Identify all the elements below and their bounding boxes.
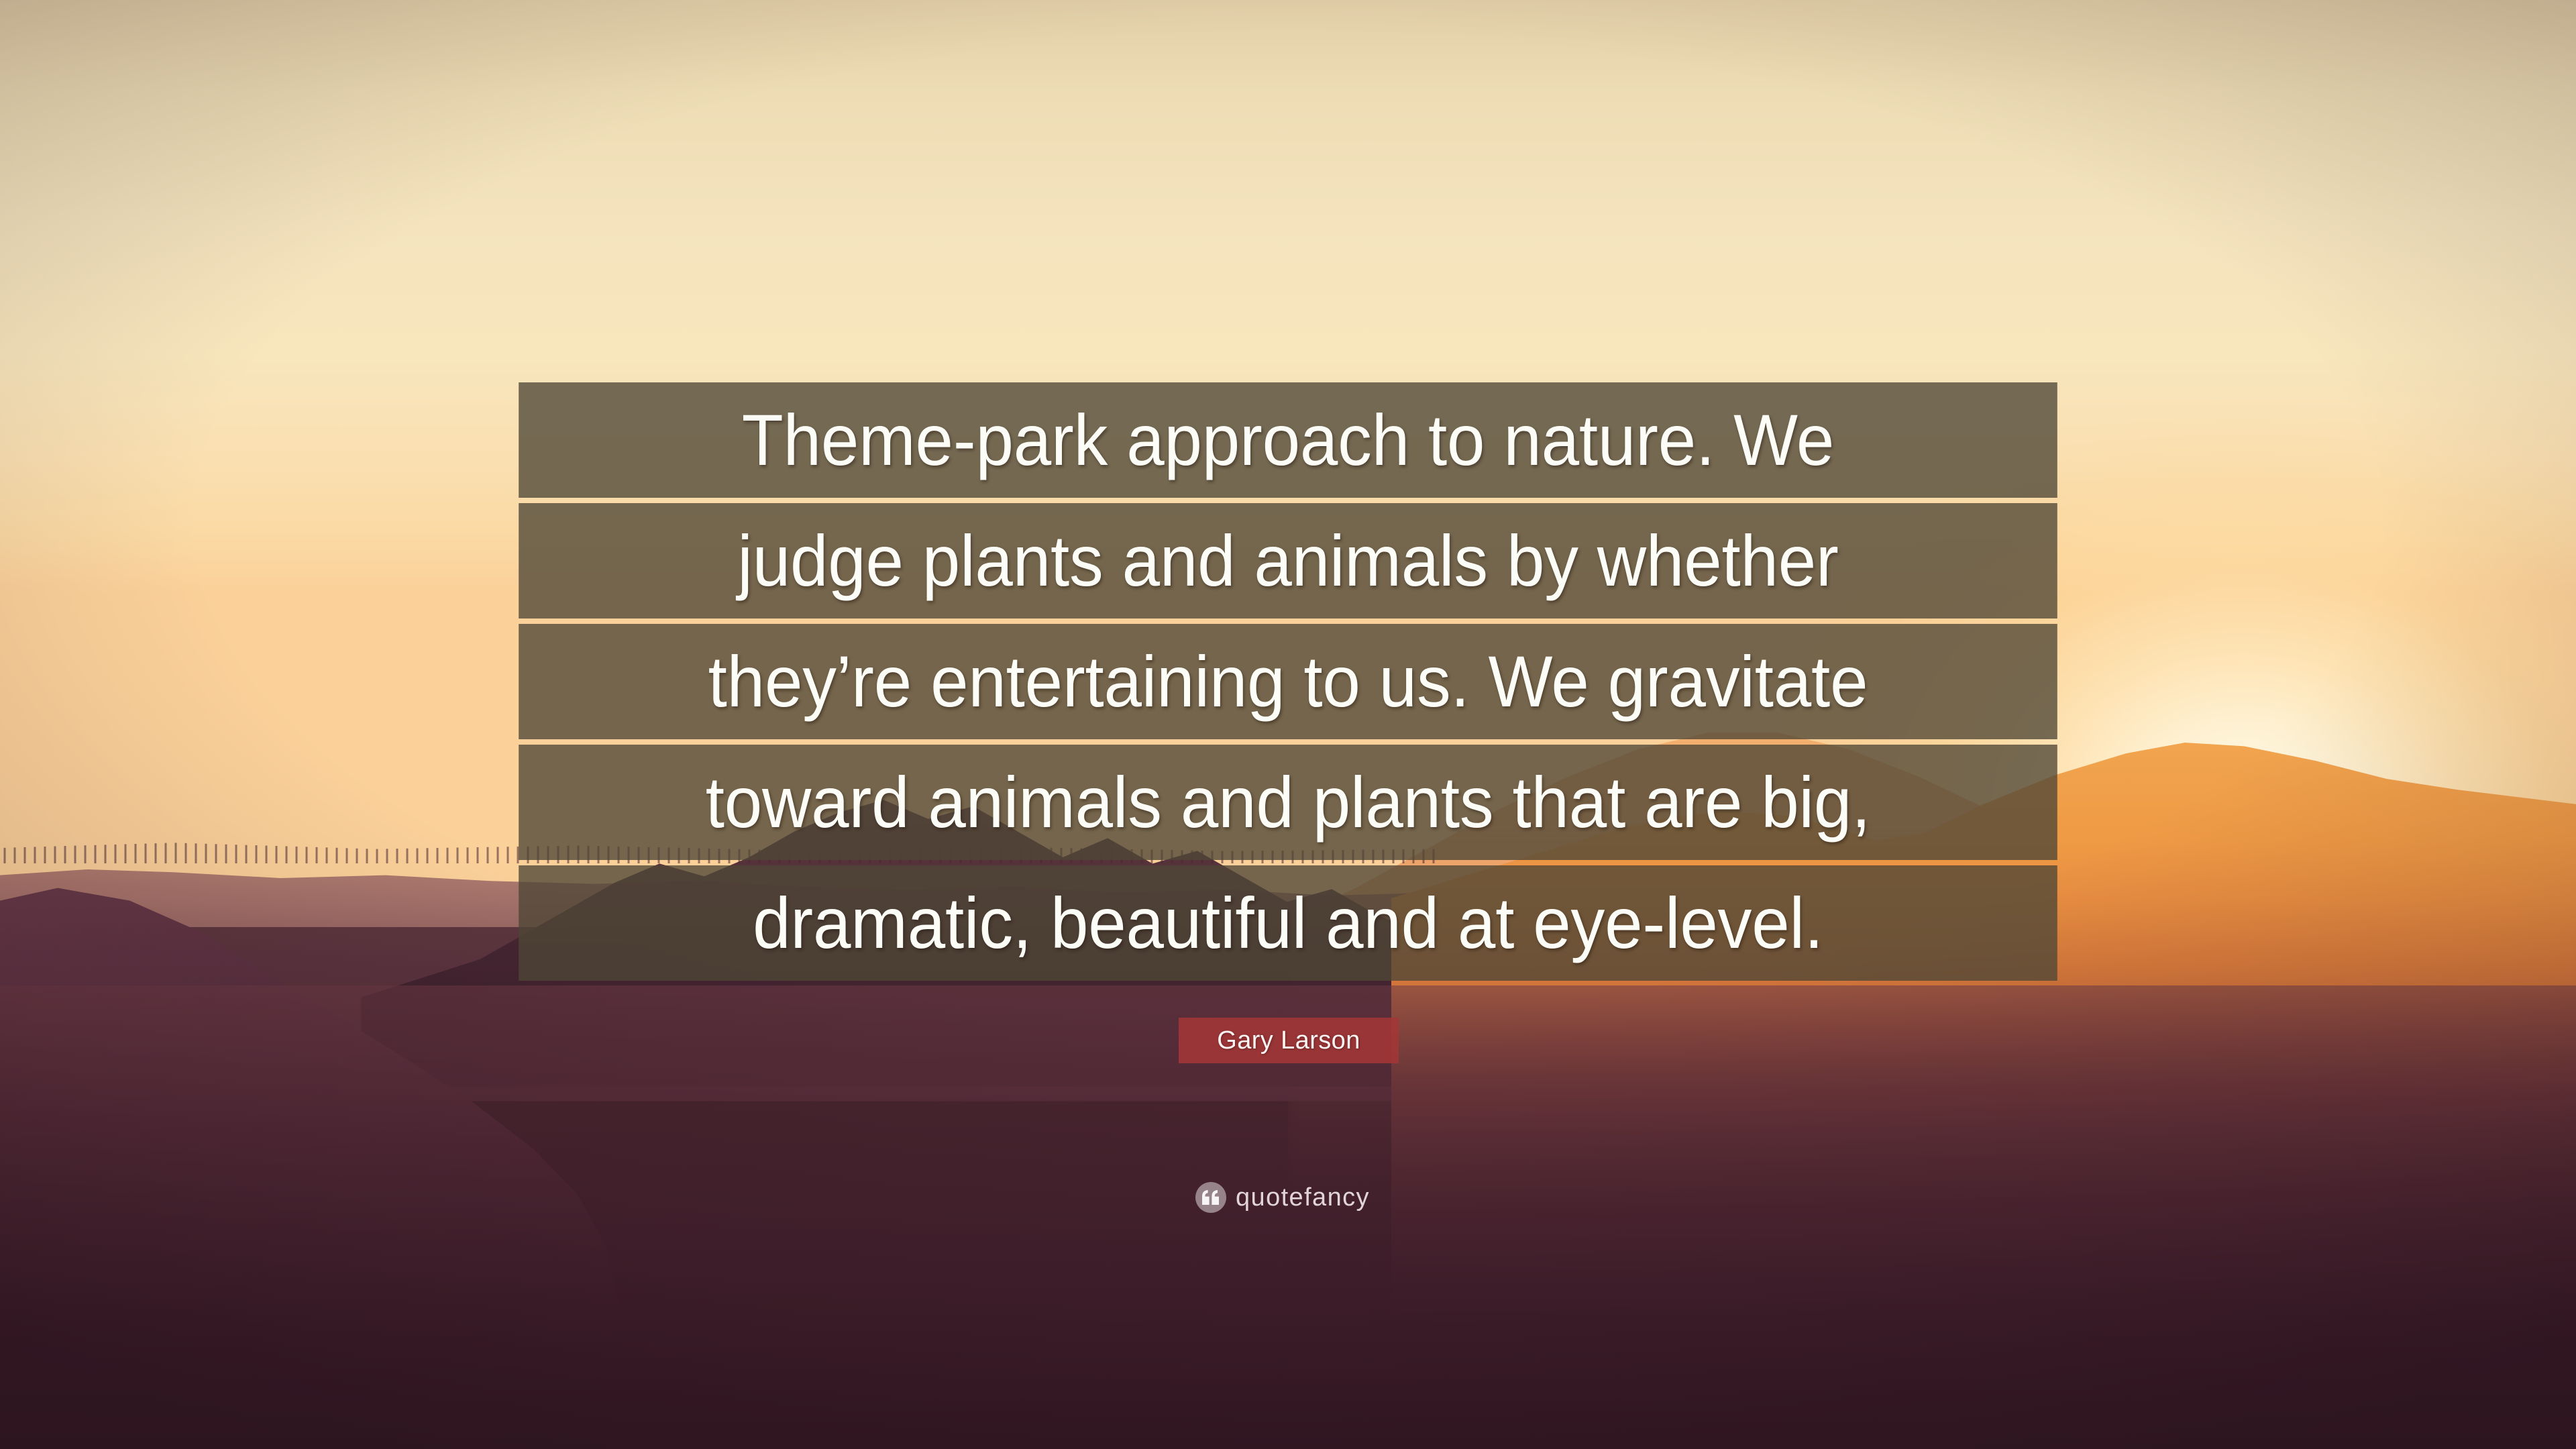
quote-line: toward animals and plants that are big, — [519, 745, 2057, 860]
author-badge: Gary Larson — [1179, 1018, 1399, 1063]
quote-line: dramatic, beautiful and at eye-level. — [519, 865, 2057, 981]
quote-text-block: Theme-park approach to nature. We judge … — [470, 382, 2106, 981]
quote-line: Theme-park approach to nature. We — [519, 382, 2057, 498]
brand-name: quotefancy — [1236, 1182, 1370, 1213]
quote-line: judge plants and animals by whether — [519, 503, 2057, 619]
quotefancy-logo[interactable]: quotefancy — [1195, 1182, 1370, 1213]
quote-poster: Theme-park approach to nature. We judge … — [0, 0, 2576, 1449]
quote-line: they’re entertaining to us. We gravitate — [519, 624, 2057, 739]
quotation-mark-icon — [1195, 1182, 1226, 1213]
